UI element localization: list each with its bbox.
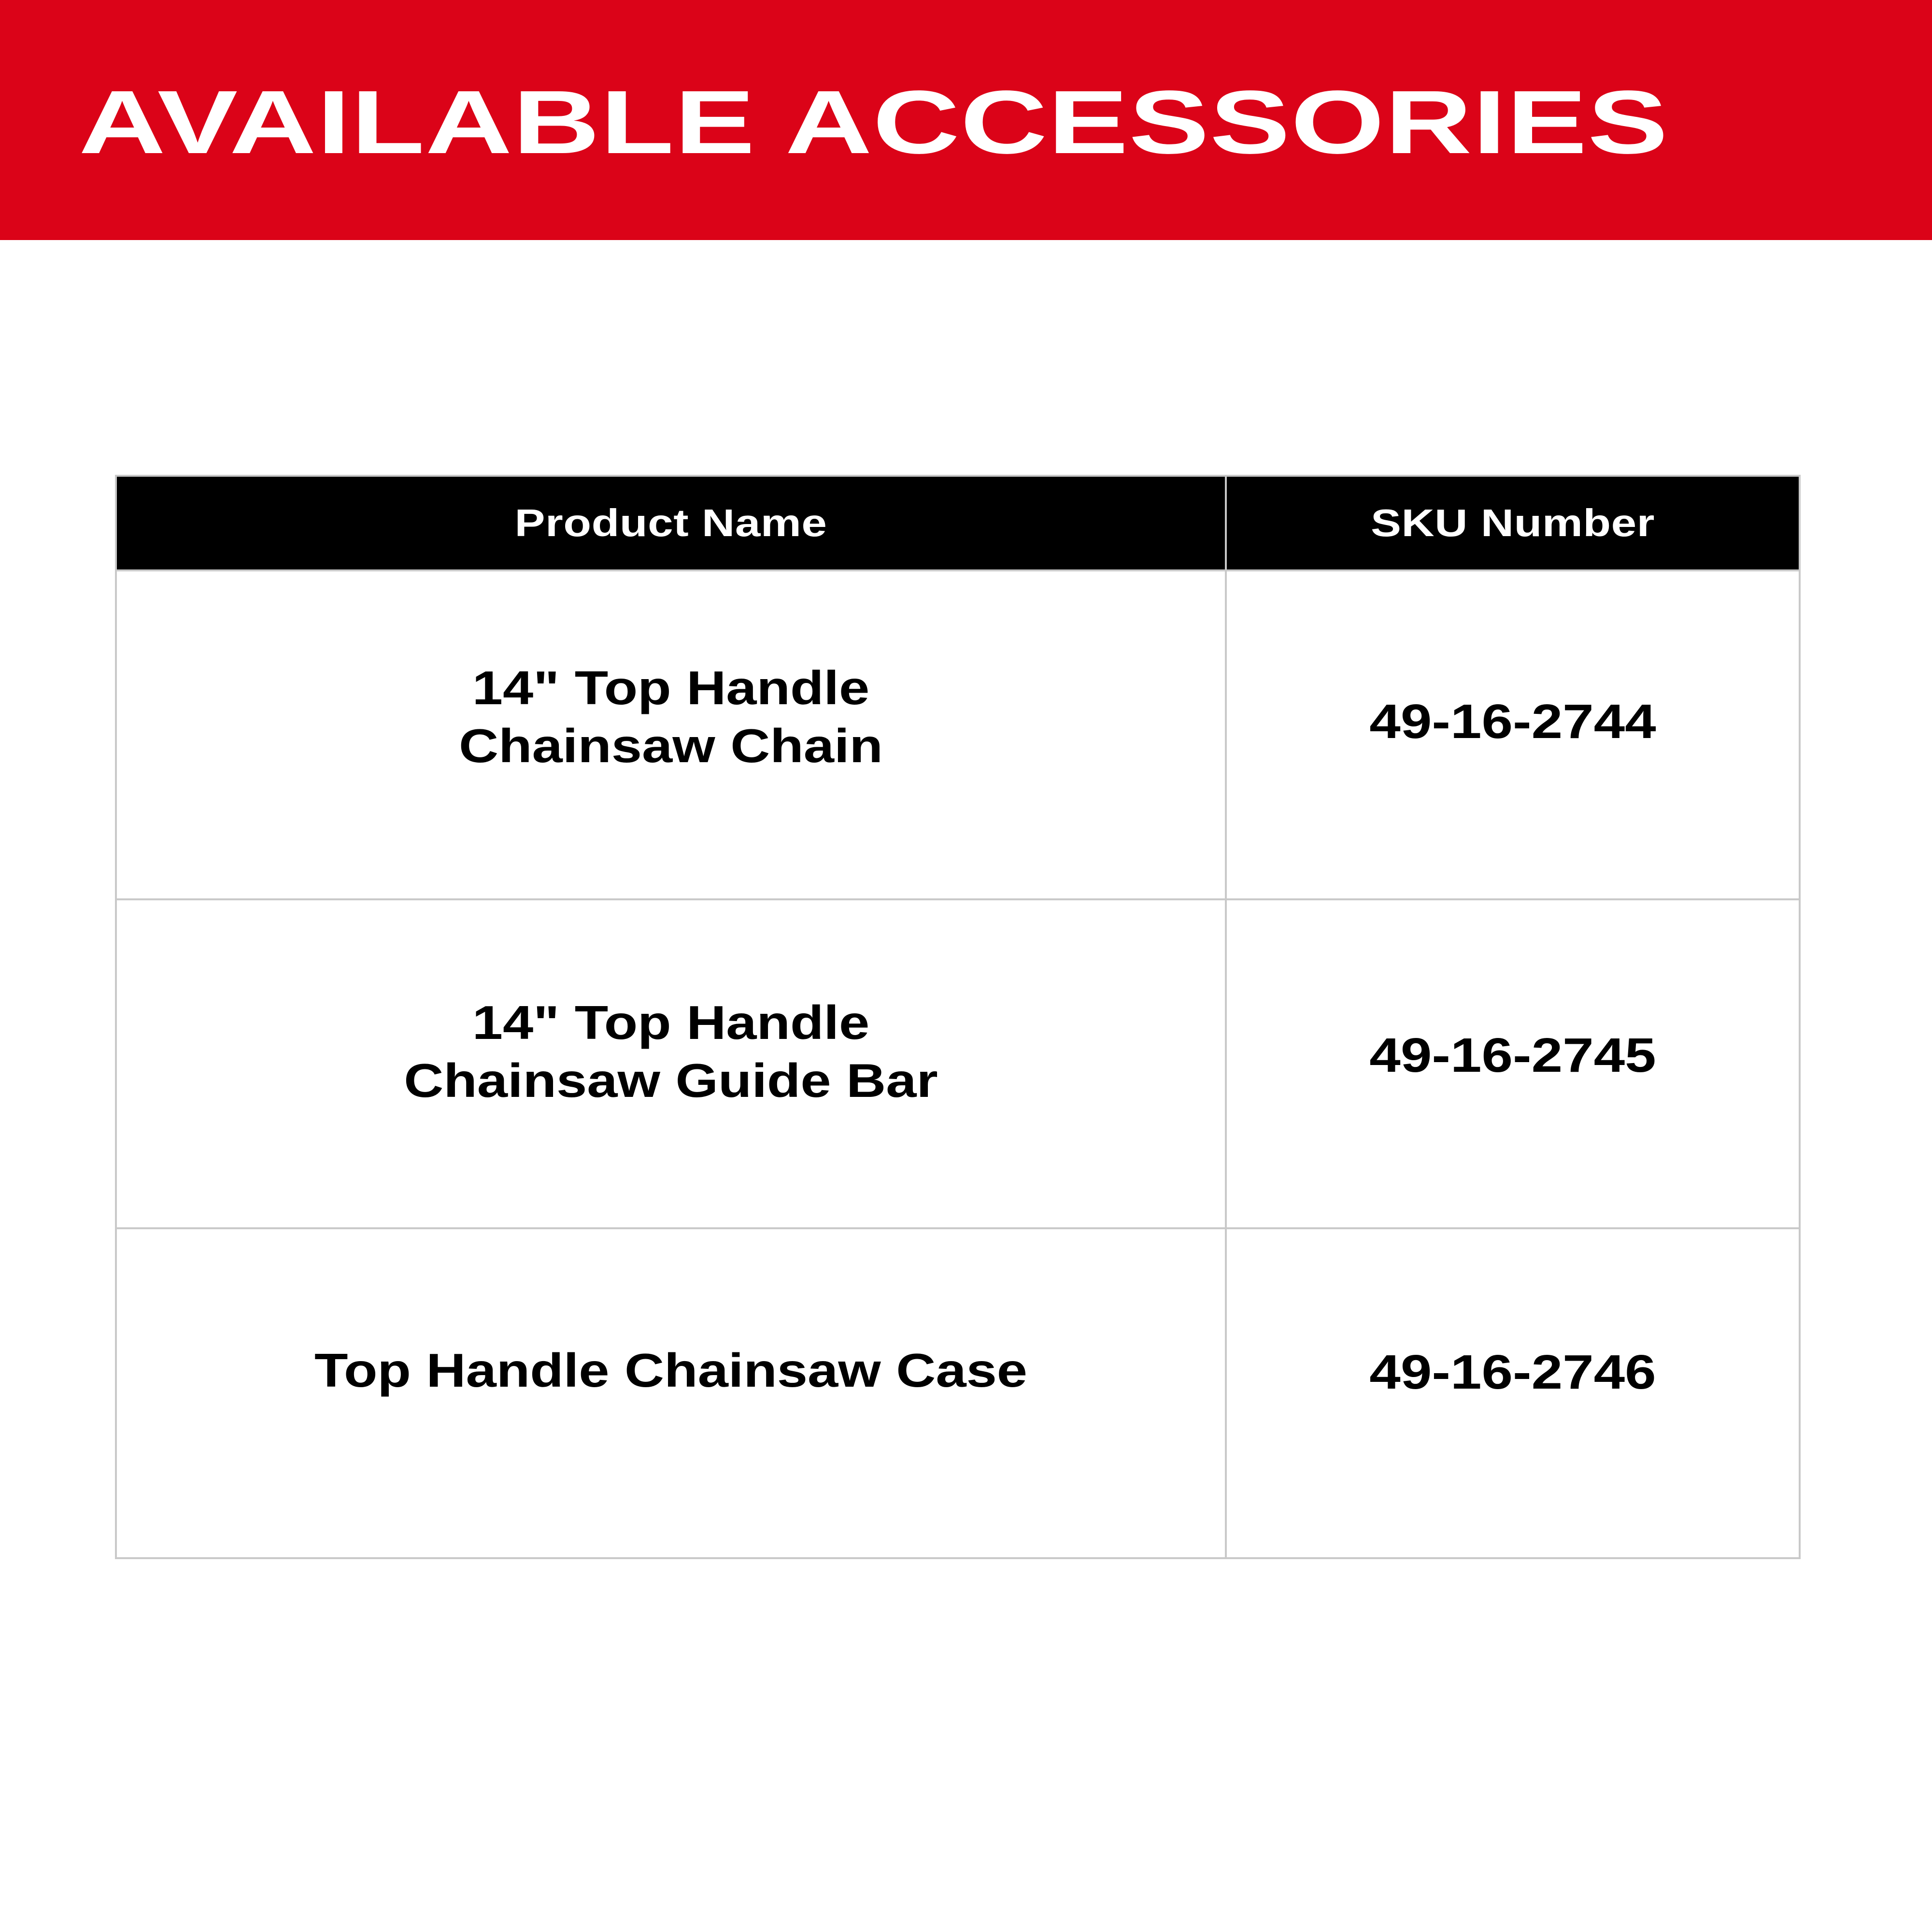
product-name-block: 14" Top Handle Chainsaw Guide Bar [117,994,1225,1109]
table-header-row: Product Name SKU Number [116,476,1800,570]
product-name-block: 14" Top Handle Chainsaw Chain [117,659,1225,775]
product-name-line-1: 14" Top Handle [28,994,1313,1051]
header-banner: AVAILABLE ACCESSORIES [0,0,1932,240]
sku-number-value: 49-16-2746 [1181,1343,1844,1401]
cell-product-name: 14" Top Handle Chainsaw Chain [116,570,1226,899]
cell-product-name: 14" Top Handle Chainsaw Guide Bar [116,899,1226,1228]
product-name-block: Top Handle Chainsaw Case [117,1341,1225,1399]
table-row: Top Handle Chainsaw Case 49-16-2746 [116,1228,1800,1558]
product-name-line-1: Top Handle Chainsaw Case [28,1341,1313,1399]
product-name-line-2: Chainsaw Guide Bar [28,1051,1313,1109]
column-header-sku-number: SKU Number [1226,476,1800,570]
product-name-line-2: Chainsaw Chain [28,717,1313,775]
accessories-table: Product Name SKU Number 14" Top Handle C… [115,475,1801,1559]
cell-product-name: Top Handle Chainsaw Case [116,1228,1226,1558]
column-header-sku-number-label: SKU Number [1175,501,1850,545]
table-row: 14" Top Handle Chainsaw Chain 49-16-2744 [116,570,1800,899]
sku-number-value: 49-16-2745 [1181,1026,1844,1084]
accessories-page: AVAILABLE ACCESSORIES Product Name SKU N… [0,0,1932,1932]
column-header-product-name: Product Name [116,476,1226,570]
sku-number-value: 49-16-2744 [1181,693,1844,751]
sku-block: 49-16-2745 [1227,1026,1799,1084]
table-row: 14" Top Handle Chainsaw Guide Bar 49-16-… [116,899,1800,1228]
cell-sku-number: 49-16-2746 [1226,1228,1800,1558]
column-header-product-name-label: Product Name [17,501,1325,545]
sku-block: 49-16-2746 [1227,1343,1799,1401]
product-name-line-1: 14" Top Handle [28,659,1313,717]
cell-sku-number: 49-16-2745 [1226,899,1800,1228]
page-title: AVAILABLE ACCESSORIES [79,50,1932,195]
sku-block: 49-16-2744 [1227,693,1799,751]
table-body: 14" Top Handle Chainsaw Chain 49-16-2744… [116,570,1800,1558]
cell-sku-number: 49-16-2744 [1226,570,1800,899]
table-header: Product Name SKU Number [116,476,1800,570]
